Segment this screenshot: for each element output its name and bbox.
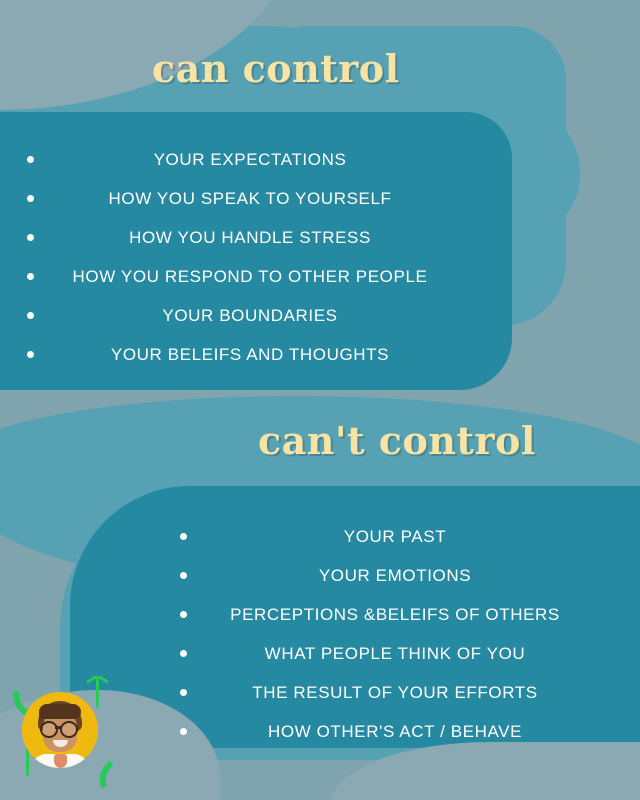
bullet-icon — [27, 273, 34, 280]
list-item-label: YOUR PAST — [344, 517, 446, 556]
list-item: PERCEPTIONS &BELEIFS OF OTHERS — [150, 595, 640, 634]
avatar — [22, 692, 98, 768]
list-item-label: HOW OTHER'S ACT / BEHAVE — [268, 712, 522, 751]
bullet-icon — [180, 728, 187, 735]
bullet-icon — [27, 351, 34, 358]
list-item: HOW YOU RESPOND TO OTHER PEOPLE — [0, 257, 500, 296]
list-item-label: THE RESULT OF YOUR EFFORTS — [252, 673, 537, 712]
bullet-icon — [180, 689, 187, 696]
list-item-label: HOW YOU HANDLE STRESS — [129, 218, 371, 257]
list-item-label: YOUR BELEIFS AND THOUGHTS — [111, 335, 389, 374]
avatar-hair-fringe — [39, 704, 81, 719]
list-item-label: PERCEPTIONS &BELEIFS OF OTHERS — [230, 595, 560, 634]
avatar-tie — [54, 754, 67, 768]
list-item: HOW YOU SPEAK TO YOURSELF — [0, 179, 500, 218]
bullet-icon — [180, 650, 187, 657]
green-sprout-icon — [96, 676, 99, 708]
list-item: YOUR EXPECTATIONS — [0, 140, 500, 179]
list-item: YOUR BOUNDARIES — [0, 296, 500, 335]
list-item: HOW OTHER'S ACT / BEHAVE — [150, 712, 640, 751]
list-item: WHAT PEOPLE THINK OF YOU — [150, 634, 640, 673]
section-title-cant-control: can't control — [258, 418, 536, 463]
list-item: THE RESULT OF YOUR EFFORTS — [150, 673, 640, 712]
bullet-icon — [180, 533, 187, 540]
bullet-icon — [180, 572, 187, 579]
section-title-can-control: can control — [152, 46, 400, 91]
bullet-icon — [27, 234, 34, 241]
list-item-label: WHAT PEOPLE THINK OF YOU — [265, 634, 526, 673]
list-item-label: YOUR EMOTIONS — [319, 556, 471, 595]
bullet-icon — [27, 195, 34, 202]
list-item: YOUR BELEIFS AND THOUGHTS — [0, 335, 500, 374]
list-item-label: YOUR EXPECTATIONS — [154, 140, 347, 179]
bullet-icon — [27, 312, 34, 319]
bullet-icon — [180, 611, 187, 618]
list-item-label: YOUR BOUNDARIES — [162, 296, 337, 335]
avatar-glasses-right — [60, 721, 78, 738]
infographic-poster: can control YOUR EXPECTATIONS HOW YOU SP… — [0, 0, 640, 800]
avatar-glasses-left — [40, 721, 58, 738]
list-item: HOW YOU HANDLE STRESS — [0, 218, 500, 257]
list-item-label: HOW YOU SPEAK TO YOURSELF — [109, 179, 392, 218]
cant-control-list: YOUR PAST YOUR EMOTIONS PERCEPTIONS &BEL… — [150, 517, 640, 751]
bullet-icon — [27, 156, 34, 163]
can-control-list: YOUR EXPECTATIONS HOW YOU SPEAK TO YOURS… — [0, 140, 500, 374]
list-item-label: HOW YOU RESPOND TO OTHER PEOPLE — [73, 257, 428, 296]
avatar-glasses-bridge — [55, 726, 62, 729]
list-item: YOUR EMOTIONS — [150, 556, 640, 595]
list-item: YOUR PAST — [150, 517, 640, 556]
